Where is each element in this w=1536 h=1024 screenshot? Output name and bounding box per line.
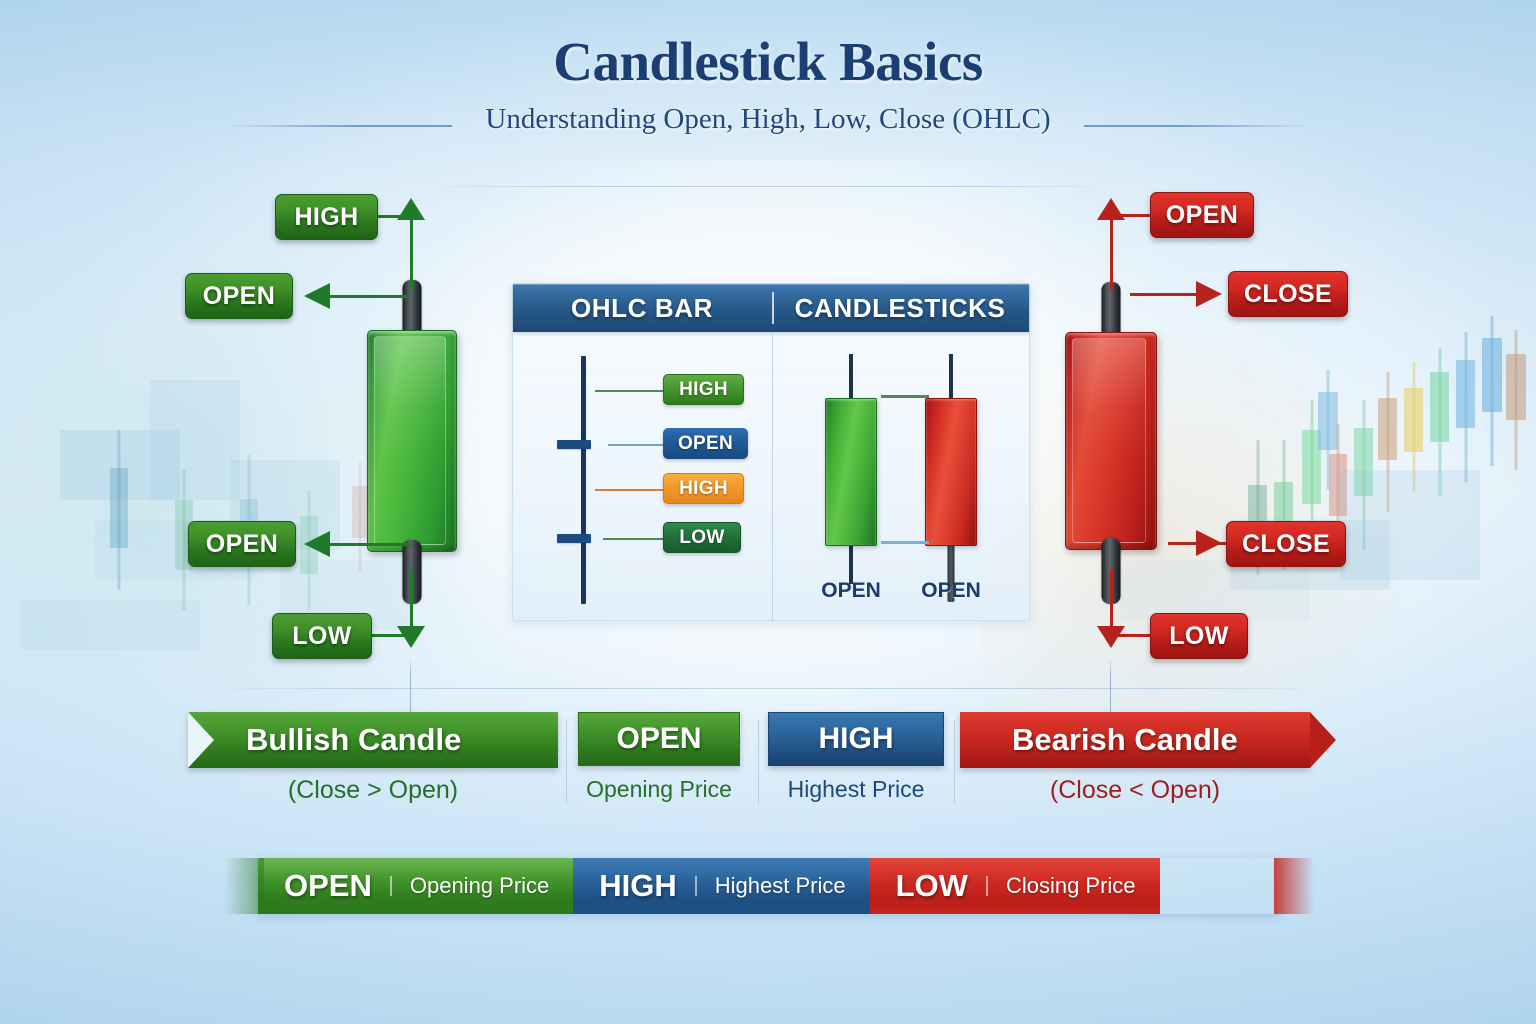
legend-high-caption: Highest Price [768, 776, 944, 803]
legend-bullish-notch [188, 712, 214, 768]
bearish-low-badge[interactable]: LOW [1150, 613, 1248, 659]
ohlc-lead-open [608, 444, 668, 446]
ohlc-label-open[interactable]: OPEN [663, 428, 748, 459]
strip-high-value: Highest Price [697, 873, 870, 899]
ohlc-label-low[interactable]: LOW [663, 522, 741, 553]
bearish-legend-dropline [1110, 658, 1111, 712]
bearish-open-badge[interactable]: OPEN [1150, 192, 1254, 238]
bearish-open-connector-vertical [1110, 218, 1113, 290]
panel-column-divider [772, 332, 773, 622]
bullish-open-top-arrowhead [304, 283, 330, 309]
bullish-open-bottom-arrowhead [304, 531, 330, 557]
strip-open-key: OPEN [258, 868, 390, 904]
legend-bearish-caption: (Close < Open) [960, 776, 1310, 805]
legend-separator-2 [758, 720, 759, 804]
bullish-legend-dropline [410, 658, 411, 712]
legend-open-caption: Opening Price [578, 776, 740, 803]
mini-bullish-candle [825, 354, 877, 584]
legend-high-label: HIGH [819, 722, 894, 756]
ohlc-lead-low [603, 538, 667, 540]
bullish-open-bottom-connector [330, 543, 412, 546]
bearish-low-connector-horizontal [1112, 634, 1154, 637]
bottom-key-strip: OPEN Opening Price HIGH Highest Price LO… [258, 858, 1280, 914]
bullish-high-connector-vertical [410, 218, 413, 290]
comparison-panel-header: OHLC BAR CANDLESTICKS [513, 284, 1029, 332]
ohlc-lead-high [595, 390, 667, 392]
bullish-low-connector-vertical [410, 570, 413, 628]
mini-bearish-candle [925, 354, 977, 584]
legend-row: Bullish Candle (Close > Open) OPEN Openi… [0, 712, 1536, 808]
legend-separator-1 [566, 720, 567, 804]
bearish-low-connector-vertical [1110, 570, 1113, 628]
legend-bearish-notch [1310, 712, 1336, 768]
ohlc-lead-high2 [595, 489, 667, 491]
bullish-open-top-connector [330, 295, 410, 298]
diagram-stage: HIGH OPEN OPEN LOW OPEN CLOSE CLOSE LOW … [0, 0, 1536, 1024]
bullish-low-badge[interactable]: LOW [272, 613, 372, 659]
ohlc-bar-close-tick [557, 534, 591, 543]
legend-top-rule [200, 688, 1330, 689]
mini-caption-right: OPEN [913, 579, 989, 603]
legend-open-label: OPEN [616, 722, 701, 756]
strip-segment-low[interactable]: LOW Closing Price [870, 858, 1160, 914]
bearish-close-bottom-arrowhead [1196, 530, 1222, 556]
bearish-close-top-arrowhead [1196, 281, 1222, 307]
ohlc-label-high[interactable]: HIGH [663, 374, 744, 405]
bullish-open-bottom-badge[interactable]: OPEN [188, 521, 296, 567]
strip-high-key: HIGH [573, 868, 695, 904]
mini-bullish-body [825, 398, 877, 546]
legend-separator-3 [954, 720, 955, 804]
mini-tick-blue [881, 541, 929, 544]
comparison-panel: OHLC BAR CANDLESTICKS HIGH OPEN HIGH LOW [512, 283, 1030, 621]
legend-bullish-caption: (Close > Open) [188, 776, 558, 805]
panel-header-divider [772, 292, 774, 324]
bullish-low-arrowhead [397, 626, 425, 648]
bullish-high-badge[interactable]: HIGH [275, 194, 378, 240]
strip-segment-open[interactable]: OPEN Opening Price [258, 858, 573, 914]
bearish-close-top-badge[interactable]: CLOSE [1228, 271, 1348, 317]
panel-header-ohlc-bar: OHLC BAR [513, 284, 771, 332]
mini-caption-left: OPEN [813, 579, 889, 603]
panel-header-candlesticks: CANDLESTICKS [771, 284, 1029, 332]
ohlc-label-high-2[interactable]: HIGH [663, 473, 744, 504]
ohlc-bar-open-tick [557, 440, 591, 449]
legend-bullish-label: Bullish Candle [246, 722, 461, 758]
strip-open-value: Opening Price [392, 873, 573, 899]
bearish-low-arrowhead [1097, 626, 1125, 648]
strip-fade-right [1274, 858, 1314, 914]
bullish-open-top-badge[interactable]: OPEN [185, 273, 293, 319]
bearish-open-connector-horizontal [1112, 214, 1154, 217]
bearish-close-bottom-badge[interactable]: CLOSE [1226, 521, 1346, 567]
strip-low-value: Closing Price [988, 873, 1160, 899]
strip-low-key: LOW [870, 868, 986, 904]
mini-bearish-body [925, 398, 977, 546]
bearish-candle-body [1065, 332, 1157, 550]
legend-bearish-label: Bearish Candle [1012, 722, 1238, 758]
strip-segment-high[interactable]: HIGH Highest Price [573, 858, 869, 914]
bullish-candle-body [367, 330, 457, 552]
strip-fade-left [224, 858, 264, 914]
ohlc-bar-stem [581, 356, 586, 604]
bullish-low-connector-horizontal [372, 634, 412, 637]
mini-tick-green [881, 395, 929, 398]
top-divider-rule [425, 186, 1115, 187]
